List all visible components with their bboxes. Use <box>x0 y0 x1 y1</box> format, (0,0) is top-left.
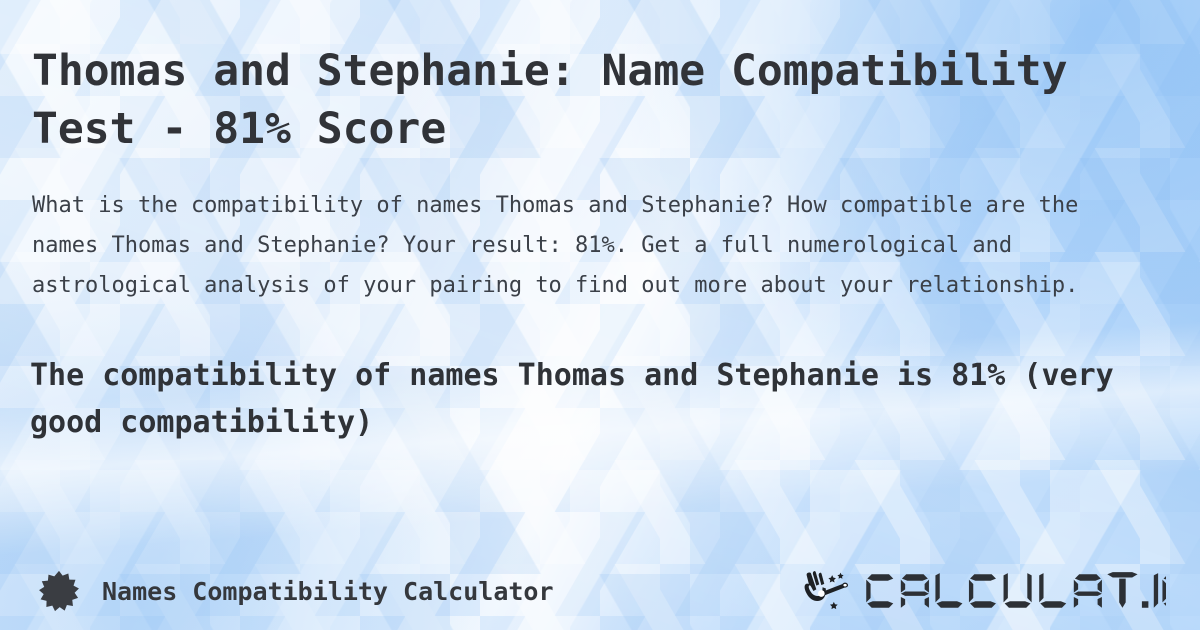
calculatio-wordmark <box>863 569 1166 613</box>
brand-label: Names Compatibility Calculator <box>102 577 554 606</box>
brand-lockup: Names Compatibility Calculator <box>38 570 554 612</box>
hand-magic-wand-icon <box>803 570 853 612</box>
compatibility-result-heading: The compatibility of names Thomas and St… <box>30 352 1180 446</box>
page-title: Thomas and Stephanie: Name Compatibility… <box>32 42 1172 158</box>
calculatio-logo[interactable] <box>803 569 1166 613</box>
card-footer: Names Compatibility Calculator <box>0 552 1200 630</box>
starburst-icon <box>38 570 80 612</box>
social-share-card: Thomas and Stephanie: Name Compatibility… <box>0 0 1200 630</box>
page-description: What is the compatibility of names Thoma… <box>32 186 1142 306</box>
